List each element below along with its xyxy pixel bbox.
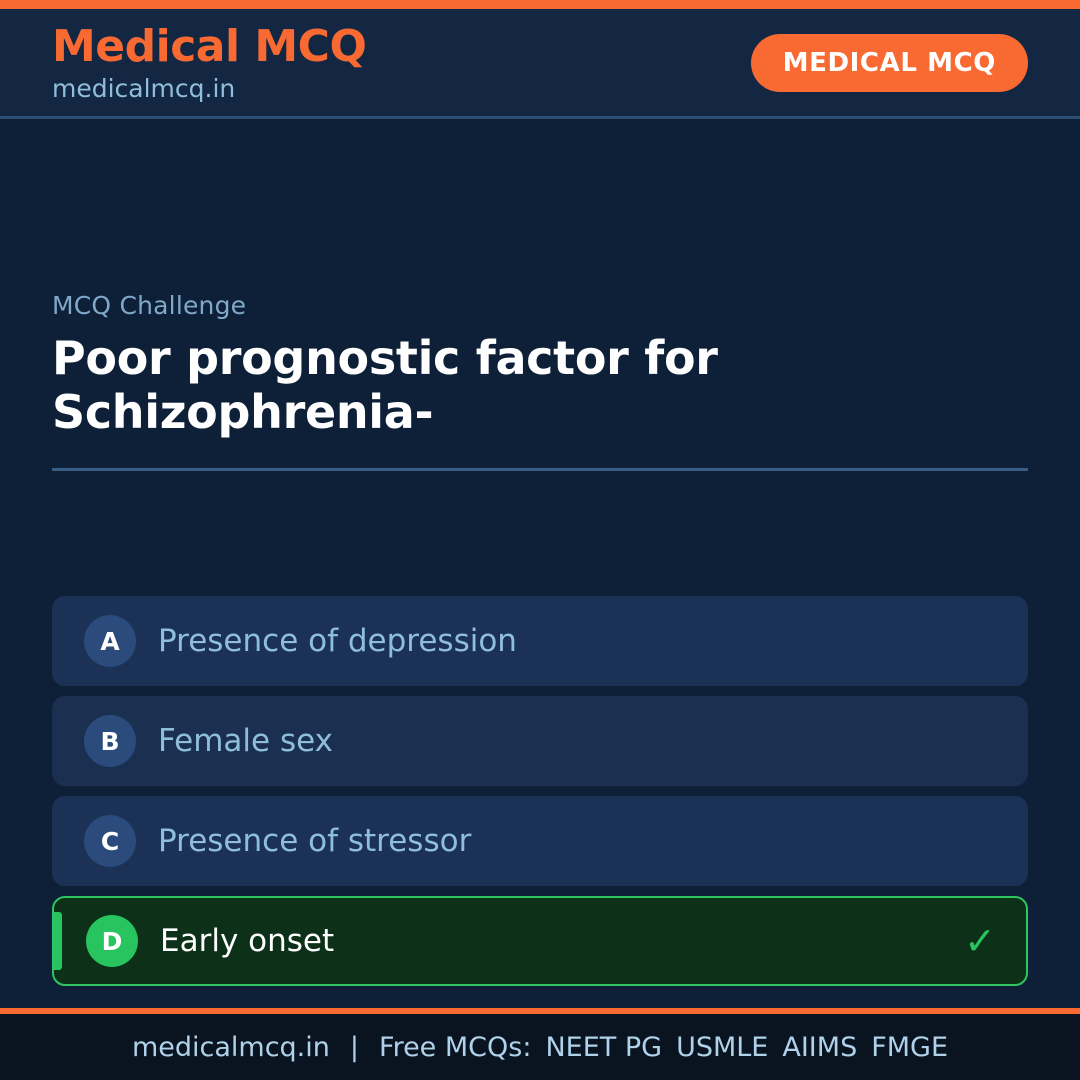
option-a[interactable]: A Presence of depression — [52, 596, 1028, 686]
option-label: Early onset — [160, 926, 334, 957]
options-list: A Presence of depression B Female sex C … — [52, 596, 1028, 986]
option-d-correct[interactable]: D Early onset ✓ — [52, 896, 1028, 986]
option-letter-badge: D — [86, 915, 138, 967]
check-icon: ✓ — [964, 922, 996, 960]
main-content: MCQ Challenge Poor prognostic factor for… — [0, 119, 1080, 1008]
top-accent-bar — [0, 0, 1080, 9]
footer-content: medicalmcq.in | Free MCQs: NEET PG USMLE… — [132, 1032, 948, 1063]
footer-separator: | — [350, 1032, 359, 1063]
header: Medical MCQ medicalmcq.in MEDICAL MCQ — [0, 9, 1080, 119]
footer-free-mcqs-label: Free MCQs: — [379, 1032, 531, 1063]
question-title: Poor prognostic factor for Schizophrenia… — [52, 332, 852, 440]
question-block: MCQ Challenge Poor prognostic factor for… — [52, 291, 1028, 471]
correct-accent-bar — [54, 912, 62, 970]
option-letter-badge: C — [84, 815, 136, 867]
footer-exam-usmle: USMLE — [676, 1032, 768, 1063]
question-divider — [52, 468, 1028, 471]
option-label: Female sex — [158, 726, 333, 757]
brand: Medical MCQ medicalmcq.in — [52, 25, 366, 101]
header-badge: MEDICAL MCQ — [751, 34, 1028, 92]
mcq-card: Medical MCQ medicalmcq.in MEDICAL MCQ MC… — [0, 0, 1080, 1080]
option-label: Presence of stressor — [158, 826, 471, 857]
footer-site-label: medicalmcq.in — [132, 1032, 330, 1063]
footer-exam-fmge: FMGE — [871, 1032, 948, 1063]
option-letter-badge: B — [84, 715, 136, 767]
question-eyebrow: MCQ Challenge — [52, 291, 1028, 320]
brand-subtitle: medicalmcq.in — [52, 76, 366, 101]
footer-exam-aiims: AIIMS — [782, 1032, 857, 1063]
footer: medicalmcq.in | Free MCQs: NEET PG USMLE… — [0, 1008, 1080, 1080]
footer-exam-neet-pg: NEET PG — [545, 1032, 662, 1063]
brand-title: Medical MCQ — [52, 25, 366, 69]
option-letter-badge: A — [84, 615, 136, 667]
option-c[interactable]: C Presence of stressor — [52, 796, 1028, 886]
option-label: Presence of depression — [158, 626, 517, 657]
option-b[interactable]: B Female sex — [52, 696, 1028, 786]
